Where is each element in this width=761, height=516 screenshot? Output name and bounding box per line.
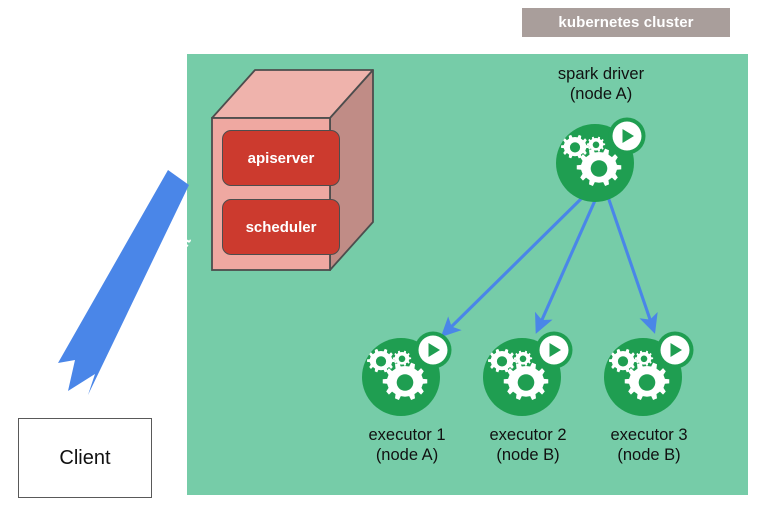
gears-play-icon [357,330,457,422]
gears-play-icon [599,330,699,422]
spark-submit-arrow [58,160,218,410]
executor-2-node-icon[interactable] [478,330,578,422]
diagram-canvas: kubernetes cluster spark-submit Client a… [0,0,761,516]
executor-3-node-icon[interactable] [599,330,699,422]
spark-driver-node: (node A) [528,84,674,104]
spark-driver-caption: spark driver (node A) [528,64,674,104]
apiserver-label: apiserver [248,150,315,167]
kubernetes-cluster-badge: kubernetes cluster [522,8,730,37]
gears-play-icon [551,116,651,208]
executor-3-caption: executor 3 (node B) [576,425,722,465]
client-box[interactable]: Client [18,418,152,498]
executor-3-node: (node B) [576,445,722,465]
spark-driver-node-icon[interactable] [551,116,651,208]
apiserver-box[interactable]: apiserver [222,130,340,186]
scheduler-label: scheduler [246,219,317,236]
kubernetes-cluster-label: kubernetes cluster [558,14,693,31]
executor-3-name: executor 3 [576,425,722,445]
gears-play-icon [478,330,578,422]
spark-driver-name: spark driver [528,64,674,84]
client-label: Client [59,447,110,470]
executor-1-node-icon[interactable] [357,330,457,422]
scheduler-box[interactable]: scheduler [222,199,340,255]
